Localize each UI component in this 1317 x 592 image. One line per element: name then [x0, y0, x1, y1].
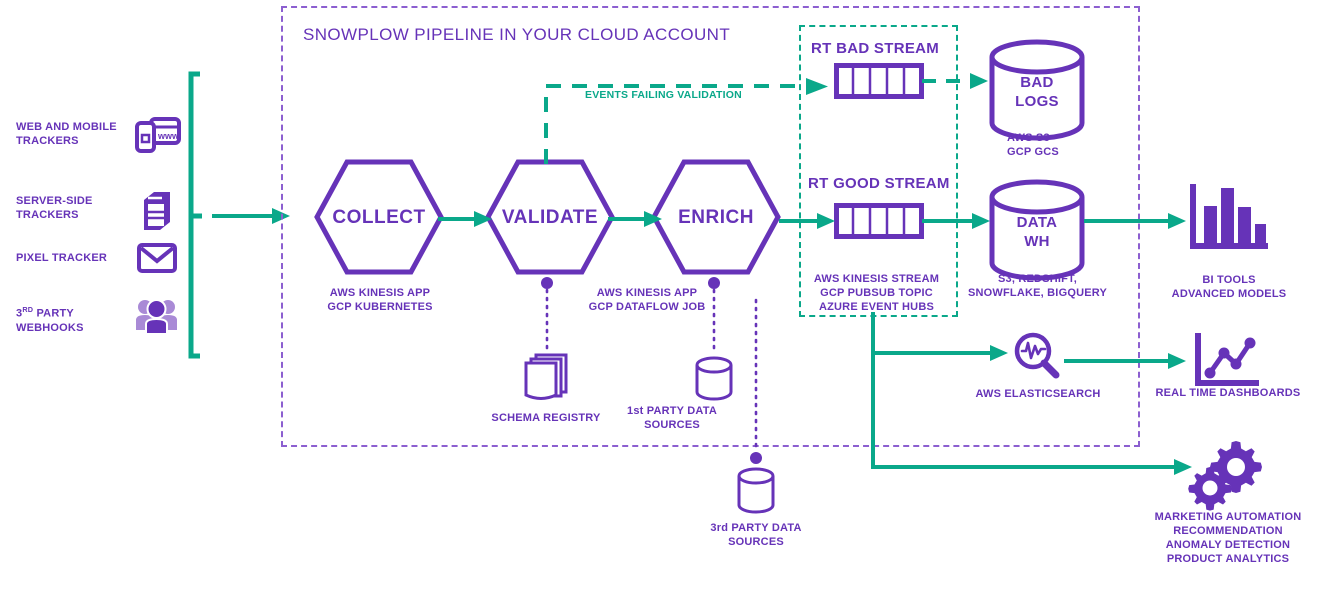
third-party-label: 3rd PARTY DATA SOURCES: [698, 521, 814, 549]
source-label-server-side: SERVER-SIDE TRACKERS: [16, 194, 126, 222]
ml-outputs-label: MARKETING AUTOMATION RECOMMENDATION ANOM…: [1140, 510, 1316, 566]
arrow-validate-to-enrich: [608, 209, 664, 229]
stage-validate-caption: AWS KINESIS APP GCP DATAFLOW JOB: [576, 286, 718, 314]
diagram-canvas: WEB AND MOBILE TRACKERS www SERVER-SIDE …: [0, 0, 1317, 592]
rt-bad-stream-queue[interactable]: [834, 63, 924, 99]
arrow-good-stream-to-data-wh: [922, 212, 992, 232]
arrow-collect-to-validate: [438, 209, 494, 229]
server-icon: [138, 188, 180, 232]
bad-logs-label: BAD LOGS: [988, 73, 1086, 111]
bad-events-branch: [540, 72, 830, 172]
real-time-dashboards-label: REAL TIME DASHBOARDS: [1140, 386, 1316, 400]
data-wh-caption: S3, REDSHIFT, SNOWFLAKE, BIGQUERY: [965, 272, 1110, 300]
third-party-database-cylinder-icon: [688, 465, 824, 517]
phone-browser-icon: www: [133, 113, 181, 157]
source-label-pixel-tracker: PIXEL TRACKER: [16, 251, 136, 265]
envelope-icon: [136, 240, 178, 276]
rt-good-stream-queue[interactable]: [834, 203, 924, 239]
data-wh-label: DATA WH: [988, 213, 1086, 251]
rt-bad-stream-title: RT BAD STREAM: [811, 40, 939, 57]
bad-logs-caption: AWS S3 GCP GCS: [975, 131, 1099, 159]
arrow-data-wh-to-bi-tools: [1084, 212, 1188, 232]
arrow-bad-stream-to-bad-logs: [922, 72, 990, 92]
pipeline-frame-title: SNOWPLOW PIPELINE IN YOUR CLOUD ACCOUNT: [303, 25, 730, 45]
streams-frame-caption: AWS KINESIS STREAM GCP PUBSUB TOPIC AZUR…: [795, 272, 958, 314]
source-label-third-party-webhooks: 3RD PARTY WEBHOOKS: [16, 303, 126, 335]
first-party-label: 1st PARTY DATA SOURCES: [614, 404, 730, 432]
documents-stack-icon: [520, 350, 576, 402]
stage-collect-caption: AWS KINESIS APP GCP KUBERNETES: [309, 286, 451, 314]
elasticsearch-label: AWS ELASTICSEARCH: [962, 387, 1114, 401]
line-chart-icon: [1193, 331, 1263, 393]
rt-good-stream-title: RT GOOD STREAM: [808, 175, 950, 192]
gears-icon: [1186, 437, 1264, 509]
bar-chart-icon: [1188, 182, 1270, 254]
stage-collect-label: COLLECT: [313, 207, 445, 229]
arrow-elasticsearch-to-dashboards: [1064, 352, 1188, 372]
stage-enrich-label: ENRICH: [650, 207, 782, 229]
people-icon: [134, 296, 180, 336]
connector-enrich-third-party: [747, 300, 765, 466]
connector-enrich-first-party: [705, 276, 723, 356]
bi-tools-label: BI TOOLS ADVANCED MODELS: [1146, 273, 1312, 301]
svg-text:www: www: [157, 131, 180, 141]
schema-registry-label: SCHEMA REGISTRY: [484, 411, 608, 425]
connector-validate-schema-registry: [538, 276, 556, 356]
arrow-enrich-to-good-stream: [779, 211, 837, 231]
stage-validate-label: VALIDATE: [484, 207, 616, 229]
source-label-web-mobile: WEB AND MOBILE TRACKERS: [16, 120, 126, 148]
bad-events-branch-label: EVENTS FAILING VALIDATION: [585, 89, 742, 101]
magnifier-waveform-icon: [1010, 330, 1066, 382]
sources-bracket: [186, 70, 296, 360]
